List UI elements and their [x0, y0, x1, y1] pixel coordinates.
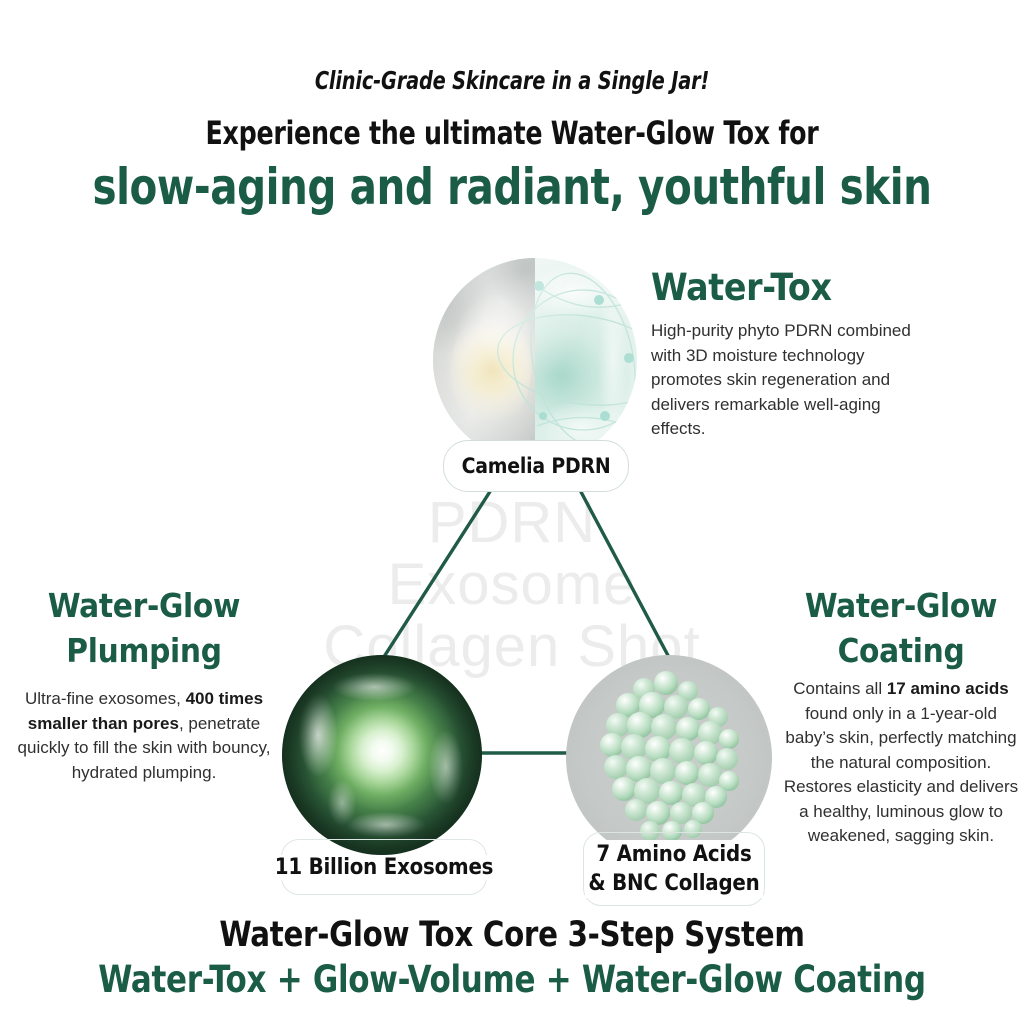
- plumping-title-line-1: Water-Glow: [8, 583, 280, 628]
- feature-block-water-glow-plumping: Water-Glow Plumping Ultra-fine exosomes,…: [8, 583, 280, 785]
- exosome-rim-shading: [282, 655, 482, 855]
- coating-desc-part-2: found only in a 1-year-old baby’s skin, …: [784, 704, 1018, 846]
- coating-title-line-1: Water-Glow: [782, 583, 1020, 628]
- camelia-pdrn-pill: Camelia PDRN: [443, 440, 629, 492]
- plumping-title-line-2: Plumping: [8, 628, 280, 673]
- plumping-description: Ultra-fine exosomes, 400 times smaller t…: [8, 687, 280, 785]
- exosome-sphere-image: [282, 655, 482, 855]
- footer-system-steps: Water-Tox + Glow-Volume + Water-Glow Coa…: [36, 958, 988, 1001]
- coating-title: Water-Glow Coating: [782, 583, 1020, 673]
- coating-desc-part-1: Contains all: [793, 679, 887, 698]
- footer-system-title: Water-Glow Tox Core 3-Step System: [36, 915, 988, 955]
- camellia-molecular-sphere-image: [433, 258, 637, 462]
- watermark-line-2: Exosome: [232, 554, 792, 616]
- exosome-count-label: 11 Billion Exosomes: [271, 855, 498, 880]
- eyebrow-tagline: Clinic-Grade Skincare in a Single Jar!: [72, 66, 953, 95]
- collagen-cluster-sphere-image: [566, 655, 772, 861]
- coating-description: Contains all 17 amino acids found only i…: [782, 677, 1020, 849]
- feature-block-water-glow-coating: Water-Glow Coating Contains all 17 amino…: [782, 583, 1020, 849]
- plumping-desc-part-1: Ultra-fine exosomes,: [25, 689, 186, 708]
- camelia-pdrn-label: Camelia PDRN: [462, 454, 611, 478]
- feature-block-water-tox: Water-Tox High-purity phyto PDRN combine…: [651, 266, 921, 442]
- collagen-bead-cluster: [566, 655, 772, 861]
- watermark-line-1: PDRN: [232, 492, 792, 554]
- headline-line-2: slow-aging and radiant, youthful skin: [51, 158, 973, 216]
- sphere-gloss: [433, 258, 637, 462]
- infographic-canvas: Clinic-Grade Skincare in a Single Jar! E…: [0, 0, 1024, 1024]
- headline-line-1: Experience the ultimate Water-Glow Tox f…: [61, 114, 962, 152]
- amino-acids-label-line-2: & BNC Collagen: [585, 869, 762, 898]
- water-tox-description: High-purity phyto PDRN combined with 3D …: [651, 319, 921, 442]
- amino-acids-label-line-1: 7 Amino Acids: [593, 840, 754, 869]
- exosome-count-pill: 11 Billion Exosomes: [281, 839, 487, 895]
- water-tox-title: Water-Tox: [651, 266, 921, 310]
- coating-title-line-2: Coating: [782, 628, 1020, 673]
- coating-desc-bold: 17 amino acids: [887, 679, 1009, 698]
- plumping-title: Water-Glow Plumping: [8, 583, 280, 673]
- amino-acids-collagen-pill: 7 Amino Acids & BNC Collagen: [583, 832, 765, 906]
- background-watermark-text: PDRN Exosome Collagen Shot: [232, 492, 792, 678]
